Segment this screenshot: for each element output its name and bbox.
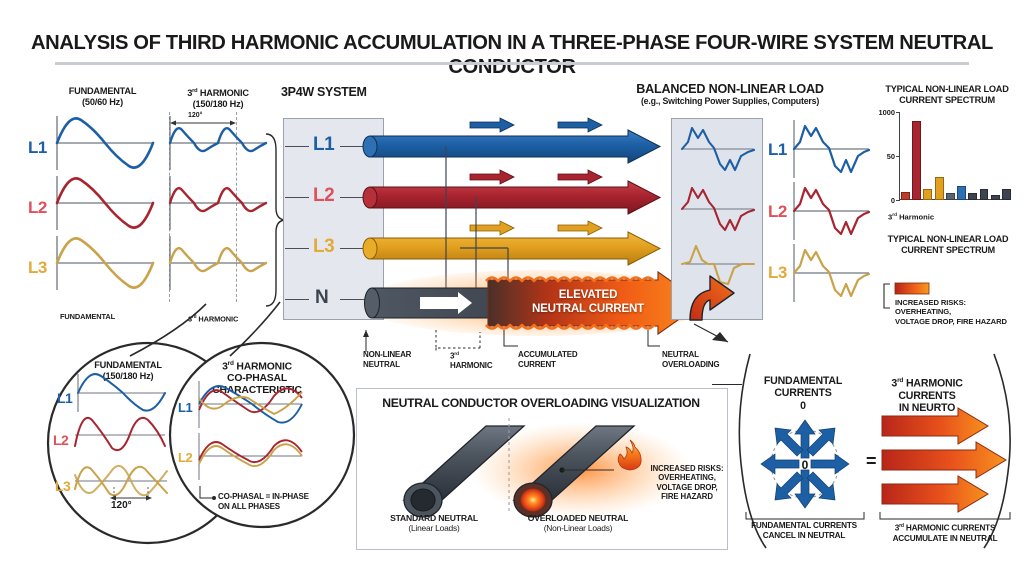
left-phase-label-l3: L3 [28,258,47,278]
callout-neutral-overloading: NEUTRAL OVERLOADING [662,350,719,369]
magnifier-right-label-l1: L1 [178,400,192,415]
third-harmonic-column-heading: 3rd HARMONIC (150/180 Hz) [163,86,273,110]
elevated-neutral-current-label: ELEVATED NEUTRAL CURRENT [518,288,658,315]
third-harmonic-neutral-heading: 3rd HARMONIC CURRENTS IN NEURTO [872,375,982,415]
overloaded-neutral-label: OVERLOADED NEUTRAL (Non-Linear Loads) [504,513,652,533]
cophasal-wave-group-1 [196,378,304,430]
load-phase-label-l2: L2 [768,202,787,222]
magnifier-left-label-l1: L1 [57,390,72,406]
left-phase-label-l2: L2 [28,198,47,218]
magnifier-left-label-l2: L2 [53,432,68,448]
fundamental-cancel-caption: FUNDAMENTAL CURRENTS CANCEL IN NEUTRAL [742,521,866,541]
title-divider [55,62,969,65]
magnifier-right-label-l2: L2 [178,450,192,465]
spectrum-bar [901,192,910,200]
magnifier-left-angle-label: 120° [111,500,132,511]
load-heading: BALANCED NON-LINEAR LOAD (e.g., Switchin… [610,84,850,107]
load-phase-label-l1: L1 [768,140,787,160]
load-waveform-l2 [678,182,756,238]
cophasal-wave-group-2 [196,430,304,482]
infographic-canvas: ANALYSIS OF THIRD HARMONIC ACCUMULATION … [0,0,1024,576]
spectrum-bar [980,189,989,200]
system-label-n: N [315,287,328,309]
magnifier-connector [110,300,290,360]
cophasal-note-leader [196,486,216,504]
cancelling-vectors-diagram: 0 [745,418,865,510]
flow-arrows-l1 [470,118,615,132]
callout-third-harmonic: 3rd HARMONIC [450,350,492,371]
spectrum-bar [991,195,1000,200]
system-label-l1: L1 [313,134,334,156]
lead-l1 [285,146,309,147]
third-harmonic-waveform-l1 [168,114,268,172]
magnifier-left-label-l3: L3 [55,478,70,494]
svg-text:0: 0 [802,458,809,472]
system-label-l3: L3 [313,236,334,258]
spectrum-bars [901,112,1011,200]
spectrum-annotation: 3rd Harmonic [888,212,934,222]
spectrum-bar [968,193,977,200]
third-harmonic-waveform-l3 [168,234,268,292]
system-label-l2: L2 [313,185,334,207]
spectrum-caption: TYPICAL NON-LINEAR LOAD CURRENT SPECTRUM [874,234,1022,256]
spectrum-bar [935,177,944,200]
spectrum-risk-text: INCREASED RISKS: OVERHEATING, VOLTAGE DR… [895,298,1023,326]
accumulating-arrows-diagram [880,412,1010,512]
load-phase-label-l3: L3 [768,263,787,283]
fundamental-waveform-l1 [55,114,155,172]
spectrum-bar [946,193,955,200]
load-waveform-l1 [678,122,756,178]
harmonic-accumulate-caption: 3rd HARMONIC CURRENTS ACCUMULATE IN NEUT… [876,521,1014,544]
output-waveform-l2 [791,180,871,242]
standard-neutral-label: STANDARD NEUTRAL (Linear Loads) [366,513,502,533]
spectrum-y-tick: 1000 [879,108,895,117]
lead-l3 [285,248,309,249]
spectrum-bar [1002,189,1011,200]
spectrum-y-axis-labels: 1000500 [874,110,898,210]
spectrum-heading: TYPICAL NON-LINEAR LOAD CURRENT SPECTRUM [872,84,1022,106]
callout-non-linear-neutral: NON-LINEAR NEUTRAL [363,350,411,369]
system-heading: 3P4W SYSTEM [281,85,367,99]
load-callout-pointer [690,320,730,344]
fundamental-waveform-l2 [55,174,155,232]
output-waveform-l1 [791,118,871,180]
fundamental-currents-heading: FUNDAMENTAL CURRENTS 0 [748,375,858,412]
neutral-return-arrow [684,266,744,324]
lead-l2 [285,197,309,198]
fire-hazard-icon [613,438,647,472]
spectrum-y-tick: 0 [891,196,895,205]
spectrum-y-tick: 50 [887,152,895,161]
cable-risk-text: INCREASED RISKS: OVERHEATING, VOLTAGE DR… [650,464,724,502]
cable-panel-heading: NEUTRAL CONDUCTOR OVERLOADING VISUALIZAT… [366,396,716,410]
spectrum-bar [957,186,966,200]
risk-color-swatch [895,283,929,294]
spectrum-bar [923,189,932,200]
spectrum-chart: 1000500 [874,110,1014,210]
footer-fundamental-label: FUNDAMENTAL [60,312,115,321]
risk-bracket [880,282,894,310]
equals-sign: = [866,451,877,472]
third-harmonic-waveform-l2 [168,174,268,232]
callout-accumulated-current: ACCUMULATED CURRENT [518,350,577,369]
spectrum-bar [912,121,921,200]
fundamental-column-heading: FUNDAMENTAL (50/60 Hz) [50,86,155,108]
cophasal-note: CO-PHASAL = IN-PHASE ON ALL PHASES [218,492,348,511]
fundamental-waveform-l3 [55,234,155,292]
vector-panel-leader [712,384,742,385]
page-title: ANALYSIS OF THIRD HARMONIC ACCUMULATION … [8,31,1017,79]
left-phase-label-l1: L1 [28,138,47,158]
output-waveform-l3 [791,242,871,304]
